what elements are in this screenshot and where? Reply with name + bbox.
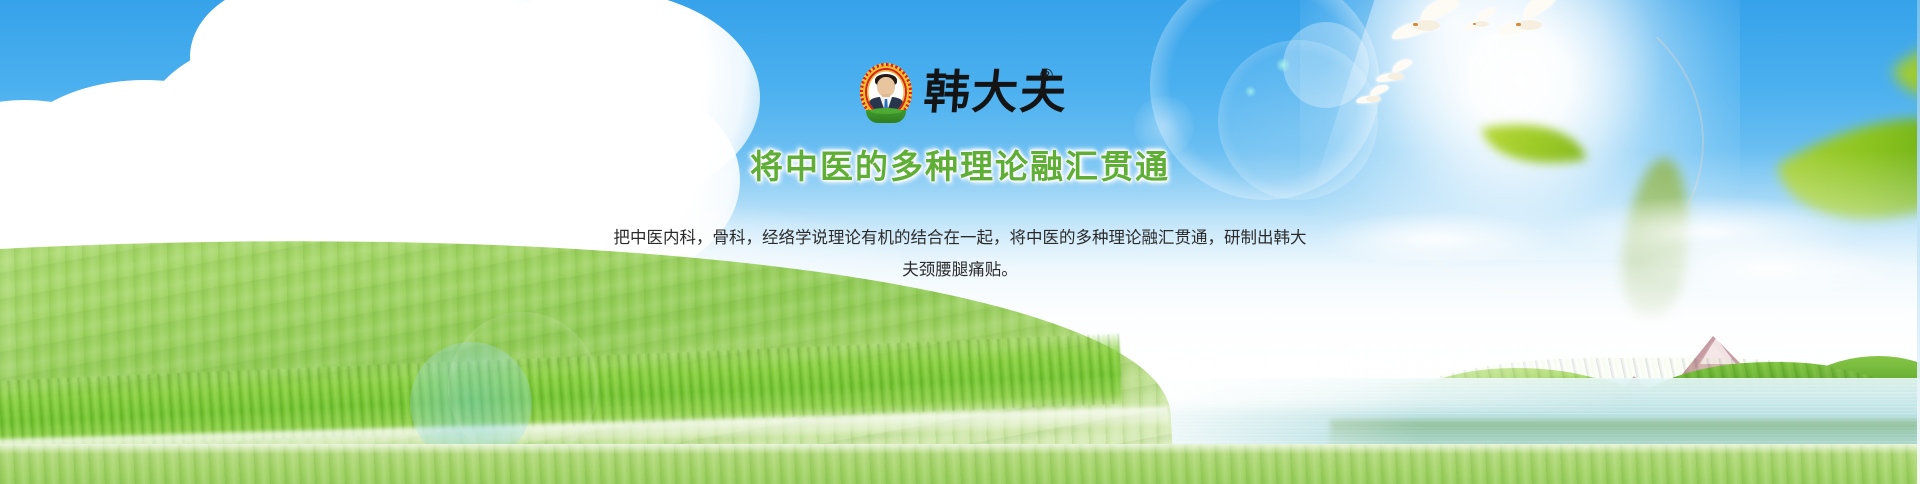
headline: 将中医的多种理论融汇贯通 (0, 140, 1920, 188)
body-copy: 把中医内科，骨科，经络学说理论有机的结合在一起，将中医的多种理论融汇贯通，研制出… (460, 222, 1460, 286)
hero-banner: 韩大夫 ® 将中医的多种理论融汇贯通 把中医内科，骨科，经络学说理论有机的结合在… (0, 0, 1920, 484)
body-copy-line-2: 夫颈腰腿痛贴。 (460, 254, 1460, 286)
registered-trademark-icon: ® (1038, 66, 1055, 86)
body-copy-line-1: 把中医内科，骨科，经络学说理论有机的结合在一起，将中医的多种理论融汇贯通，研制出… (460, 222, 1460, 254)
banner-content: 韩大夫 ® 将中医的多种理论融汇贯通 把中医内科，骨科，经络学说理论有机的结合在… (0, 0, 1920, 484)
badge-green-base (866, 110, 906, 123)
doctor-portrait-badge-icon (860, 61, 914, 123)
brand-logo[interactable]: 韩大夫 (860, 60, 1060, 124)
